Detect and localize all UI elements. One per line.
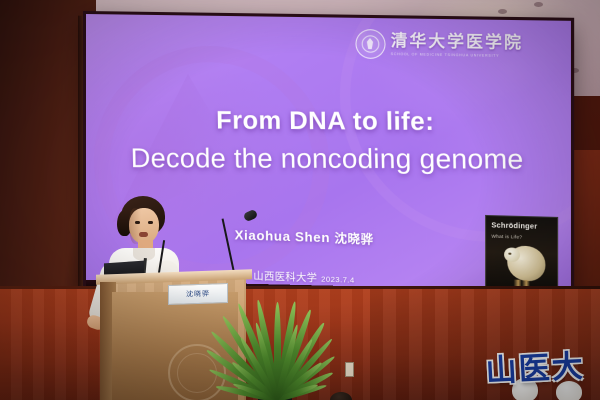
eye-right: [148, 221, 153, 224]
slide-title-line2: Decode the noncoding genome: [86, 143, 571, 176]
slide-speaker-name-cn: 沈晓骅: [335, 231, 374, 246]
eye-left: [135, 221, 140, 224]
ceiling-fixture-dot: [498, 9, 507, 14]
slide-logo-english: SCHOOL OF MEDICINE TSINGHUA UNIVERSITY: [391, 51, 523, 57]
slide-speaker-name-en: Xiaohua Shen: [235, 227, 331, 245]
potted-plant: [216, 296, 340, 400]
ceiling-fixture-dot: [534, 2, 543, 7]
podium-nameplate-text: 沈晓骅: [186, 289, 210, 300]
slide-date: 2023.7.4: [321, 274, 354, 284]
bird-photo: [507, 245, 545, 281]
book-title: Schrödinger: [491, 222, 537, 231]
tsinghua-seal-icon: [355, 28, 385, 58]
slide-logo-text: 清华大学医学院 SCHOOL OF MEDICINE TSINGHUA UNIV…: [391, 32, 523, 58]
slide-affiliation-cn: 山西医科大学: [253, 271, 317, 284]
photo-watermark: 山医大: [475, 333, 596, 397]
mouth: [139, 232, 148, 237]
face-shadow: [129, 208, 141, 244]
slide-title-line1: From DNA to life:: [86, 106, 571, 138]
wall-power-outlet-icon: [345, 362, 354, 377]
lecture-photo: 清华大学医学院 SCHOOL OF MEDICINE TSINGHUA UNIV…: [0, 0, 600, 400]
slide-logo: 清华大学医学院 SCHOOL OF MEDICINE TSINGHUA UNIV…: [355, 22, 555, 68]
ceiling-fixture-dot: [570, 68, 579, 73]
book-subtitle: What is Life?: [491, 234, 522, 240]
stage-wall-trim: [0, 286, 600, 289]
slide-logo-chinese: 清华大学医学院: [391, 32, 523, 50]
